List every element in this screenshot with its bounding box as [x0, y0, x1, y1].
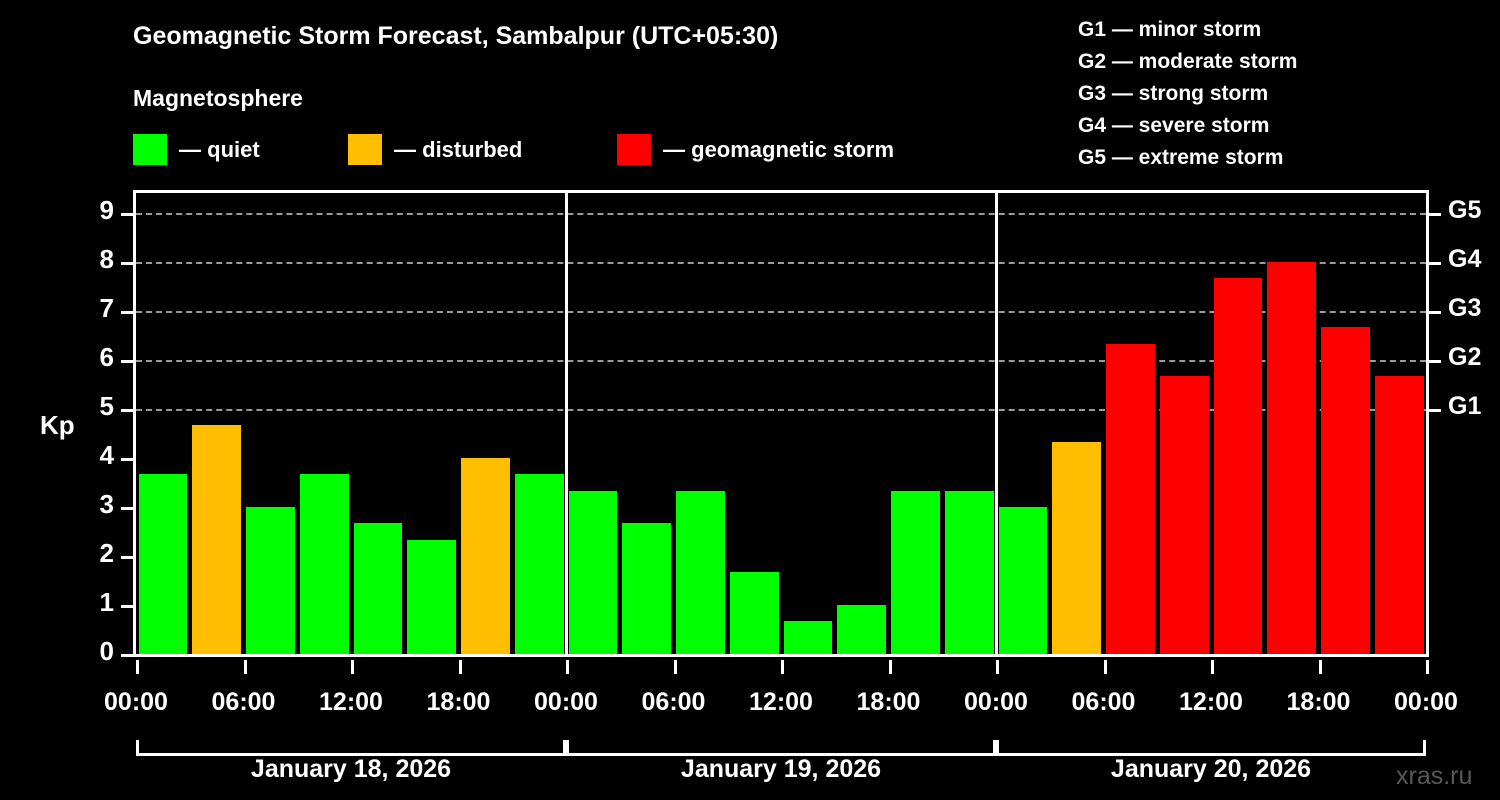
y-tick-mark-4	[121, 458, 133, 461]
legend-dash: —	[663, 137, 685, 162]
x-tick-label: 00:00	[534, 688, 598, 717]
x-tick-label: 18:00	[427, 688, 491, 717]
legend-text-storm: geomagnetic storm	[691, 137, 894, 162]
gscale-line-g5: G5 — extreme storm	[1078, 142, 1297, 174]
g-tick-mark-G3	[1429, 311, 1441, 314]
y-tick-mark-5	[121, 409, 133, 412]
legend-swatch-disturbed	[348, 134, 382, 165]
gscale-line-g3: G3 — strong storm	[1078, 78, 1297, 110]
y-tick-mark-2	[121, 556, 133, 559]
x-tick-mark	[674, 660, 677, 674]
x-tick-label: 18:00	[857, 688, 921, 717]
day-bracket-1	[136, 740, 566, 756]
g-tick-mark-G5	[1429, 213, 1441, 216]
gscale-line-g1: G1 — minor storm	[1078, 14, 1297, 46]
x-tick-mark	[1104, 660, 1107, 674]
watermark: xras.ru	[1396, 762, 1472, 791]
day-bracket-2	[566, 740, 996, 756]
legend-swatch-quiet	[133, 134, 167, 165]
legend-item-disturbed: — disturbed	[348, 134, 522, 165]
g-tick-label-G5: G5	[1448, 196, 1481, 225]
day-label-1: January 18, 2026	[251, 755, 451, 784]
gscale-legend: G1 — minor storm G2 — moderate storm G3 …	[1078, 14, 1297, 174]
chart-root: Geomagnetic Storm Forecast, Sambalpur (U…	[0, 0, 1500, 800]
day-separator-2	[995, 193, 998, 654]
legend-heading: Magnetosphere	[133, 85, 303, 112]
x-tick-mark	[1426, 660, 1429, 674]
y-tick-label-5: 5	[84, 391, 114, 422]
legend-label-disturbed: — disturbed	[394, 137, 522, 163]
y-tick-mark-9	[121, 213, 133, 216]
bar-clipped	[1429, 360, 1430, 654]
legend-dash: —	[394, 137, 416, 162]
day-bracket-3	[996, 740, 1426, 756]
plot-area	[133, 190, 1429, 657]
legend-item-storm: — geomagnetic storm	[617, 134, 894, 165]
y-tick-mark-0	[121, 654, 133, 657]
x-tick-mark	[1319, 660, 1322, 674]
g-tick-label-G1: G1	[1448, 392, 1481, 421]
x-tick-mark	[459, 660, 462, 674]
g-tick-mark-G2	[1429, 360, 1441, 363]
x-tick-label: 12:00	[1179, 688, 1243, 717]
x-tick-mark	[351, 660, 354, 674]
gscale-line-g2: G2 — moderate storm	[1078, 46, 1297, 78]
y-tick-label-0: 0	[84, 636, 114, 667]
g-tick-label-G3: G3	[1448, 294, 1481, 323]
x-tick-label: 18:00	[1287, 688, 1351, 717]
x-tick-label: 00:00	[964, 688, 1028, 717]
x-tick-label: 00:00	[1394, 688, 1458, 717]
y-tick-label-4: 4	[84, 440, 114, 471]
legend-dash: —	[179, 137, 201, 162]
x-tick-label: 06:00	[212, 688, 276, 717]
x-tick-label: 06:00	[642, 688, 706, 717]
y-tick-label-2: 2	[84, 538, 114, 569]
legend-label-quiet: — quiet	[179, 137, 260, 163]
day-separators	[136, 193, 1426, 654]
x-tick-mark	[1211, 660, 1214, 674]
y-tick-label-6: 6	[84, 342, 114, 373]
day-separator-1	[565, 193, 568, 654]
legend-label-storm: — geomagnetic storm	[663, 137, 894, 163]
y-tick-label-1: 1	[84, 587, 114, 618]
day-label-2: January 19, 2026	[681, 755, 881, 784]
y-tick-mark-6	[121, 360, 133, 363]
y-tick-mark-1	[121, 605, 133, 608]
x-tick-mark	[889, 660, 892, 674]
y-tick-mark-3	[121, 507, 133, 510]
y-tick-mark-7	[121, 311, 133, 314]
g-tick-mark-G4	[1429, 262, 1441, 265]
x-tick-mark	[136, 660, 139, 674]
x-tick-mark	[244, 660, 247, 674]
g-tick-mark-G1	[1429, 409, 1441, 412]
x-tick-label: 12:00	[749, 688, 813, 717]
x-tick-label: 06:00	[1072, 688, 1136, 717]
y-tick-label-3: 3	[84, 489, 114, 520]
x-tick-mark	[781, 660, 784, 674]
x-tick-mark	[996, 660, 999, 674]
legend-text-disturbed: disturbed	[422, 137, 522, 162]
y-tick-label-8: 8	[84, 244, 114, 275]
y-tick-label-7: 7	[84, 293, 114, 324]
x-tick-mark	[566, 660, 569, 674]
y-tick-label-9: 9	[84, 195, 114, 226]
legend-swatch-storm	[617, 134, 651, 165]
g-tick-label-G4: G4	[1448, 245, 1481, 274]
g-tick-label-G2: G2	[1448, 343, 1481, 372]
gscale-line-g4: G4 — severe storm	[1078, 110, 1297, 142]
x-tick-label: 12:00	[319, 688, 383, 717]
x-tick-label: 00:00	[104, 688, 168, 717]
day-label-3: January 20, 2026	[1111, 755, 1311, 784]
y-axis-label: Kp	[40, 410, 75, 441]
y-tick-mark-8	[121, 262, 133, 265]
legend-text-quiet: quiet	[207, 137, 260, 162]
page-title: Geomagnetic Storm Forecast, Sambalpur (U…	[133, 22, 778, 51]
legend-item-quiet: — quiet	[133, 134, 260, 165]
